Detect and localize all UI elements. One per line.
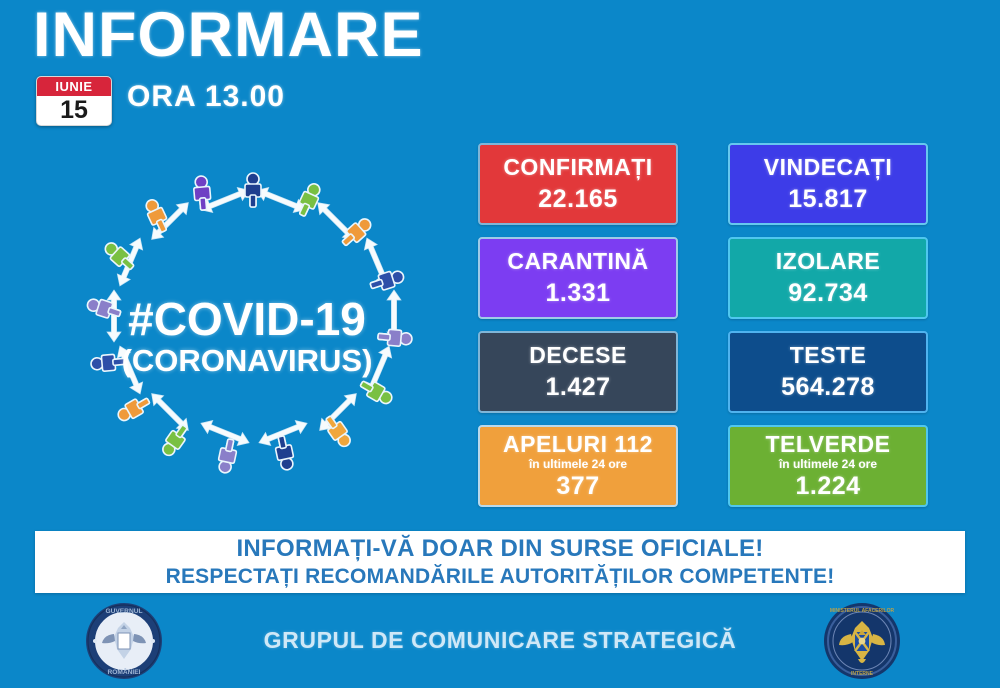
circle-figures-svg bbox=[22, 158, 472, 518]
page-title: INFORMARE bbox=[33, 2, 423, 68]
stat-card-teste[interactable]: TESTE 564.278 bbox=[728, 331, 928, 413]
stat-card-carantina[interactable]: CARANTINĂ 1.331 bbox=[478, 237, 678, 319]
stat-value-vindecati: 15.817 bbox=[788, 186, 867, 214]
stat-value-apeluri112: 377 bbox=[556, 473, 599, 501]
stat-note-apeluri112: în ultimele 24 ore bbox=[529, 458, 627, 472]
banner-line-2: RESPECTAȚI RECOMANDĂRILE AUTORITĂȚILOR C… bbox=[166, 564, 835, 589]
official-sources-banner: INFORMAȚI-VĂ DOAR DIN SURSE OFICIALE! RE… bbox=[35, 531, 965, 593]
ministerul-afacerilor-interne-seal-icon: MINISTERUL AFACERILOR INTERNE bbox=[822, 601, 902, 681]
stat-label-decese: DECESE bbox=[529, 343, 627, 368]
calendar-month-label: IUNIE bbox=[37, 77, 111, 96]
stat-label-izolare: IZOLARE bbox=[776, 249, 880, 274]
stat-label-telverde: TELVERDE bbox=[766, 432, 891, 457]
banner-line-1: INFORMAȚI-VĂ DOAR DIN SURSE OFICIALE! bbox=[236, 535, 763, 563]
stat-value-decese: 1.427 bbox=[545, 374, 610, 402]
stat-value-teste: 564.278 bbox=[781, 374, 875, 402]
stat-label-carantina: CARANTINĂ bbox=[507, 249, 648, 274]
stat-value-confirmati: 22.165 bbox=[538, 186, 617, 214]
calendar-day-label: 15 bbox=[37, 96, 111, 125]
covid-circle-illustration: #COVID-19 (CORONAVIRUS) bbox=[22, 158, 472, 518]
stat-card-vindecati[interactable]: VINDECAȚI 15.817 bbox=[728, 143, 928, 225]
stat-card-izolare[interactable]: IZOLARE 92.734 bbox=[728, 237, 928, 319]
svg-text:MINISTERUL AFACERILOR: MINISTERUL AFACERILOR bbox=[830, 608, 895, 614]
infographic-root: INFORMARE IUNIE 15 ORA 13.00 bbox=[0, 0, 1000, 688]
stat-label-vindecati: VINDECAȚI bbox=[764, 155, 892, 180]
svg-text:INTERNE: INTERNE bbox=[851, 671, 874, 677]
time-label: ORA 13.00 bbox=[127, 80, 285, 114]
calendar-icon: IUNIE 15 bbox=[36, 76, 112, 126]
stat-note-telverde: în ultimele 24 ore bbox=[779, 458, 877, 472]
stat-value-carantina: 1.331 bbox=[545, 280, 610, 308]
stat-label-teste: TESTE bbox=[790, 343, 867, 368]
stat-value-izolare: 92.734 bbox=[788, 280, 867, 308]
stats-grid: CONFIRMAȚI 22.165 VINDECAȚI 15.817 CARAN… bbox=[478, 143, 928, 507]
stat-card-decese[interactable]: DECESE 1.427 bbox=[478, 331, 678, 413]
svg-text:ROMÂNIEI: ROMÂNIEI bbox=[108, 667, 141, 676]
svg-text:GUVERNUL: GUVERNUL bbox=[106, 608, 143, 615]
stat-value-telverde: 1.224 bbox=[795, 473, 860, 501]
stat-label-confirmati: CONFIRMAȚI bbox=[503, 155, 652, 180]
stat-card-confirmati[interactable]: CONFIRMAȚI 22.165 bbox=[478, 143, 678, 225]
stat-card-apeluri112[interactable]: APELURI 112 în ultimele 24 ore 377 bbox=[478, 425, 678, 507]
stat-card-telverde[interactable]: TELVERDE în ultimele 24 ore 1.224 bbox=[728, 425, 928, 507]
stat-label-apeluri112: APELURI 112 bbox=[503, 432, 653, 457]
